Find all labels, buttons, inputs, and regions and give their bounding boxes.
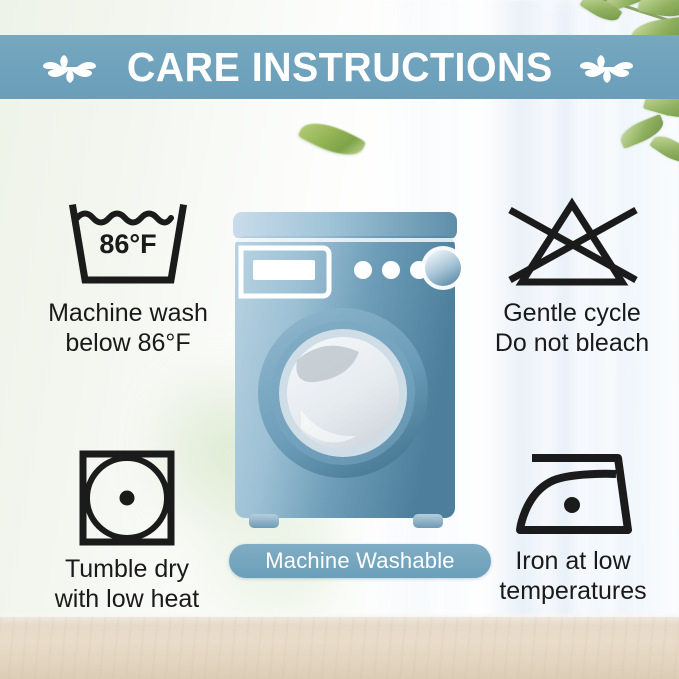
- page-title: CARE INSTRUCTIONS: [127, 44, 553, 91]
- care-symbol-caption: Gentle cycle Do not bleach: [495, 298, 649, 358]
- tumble-dry-square-icon: [75, 448, 179, 548]
- fleur-de-lis-icon: [579, 45, 637, 89]
- wash-temperature-label: 86°F: [99, 229, 156, 259]
- care-symbol-caption: Tumble dry with low heat: [55, 554, 200, 614]
- care-symbol-iron: Iron at low temperatures: [470, 448, 676, 606]
- foliage-top-right: [535, 0, 679, 200]
- care-symbol-caption: Iron at low temperatures: [499, 546, 646, 606]
- wood-surface-grain: [0, 617, 679, 679]
- care-symbol-caption: Machine wash below 86°F: [48, 298, 208, 358]
- washing-machine-illustration: [227, 210, 463, 530]
- care-symbol-tumble-dry: Tumble dry with low heat: [22, 448, 232, 614]
- care-symbol-gentle-cycle: Gentle cycle Do not bleach: [468, 196, 676, 358]
- triangle-crossed-icon: [496, 196, 648, 292]
- machine-washable-badge: Machine Washable: [229, 544, 491, 578]
- care-instructions-scene: CARE INSTRUCTIONS 86°F Machine wash belo…: [0, 0, 679, 679]
- care-symbol-machine-wash: 86°F Machine wash below 86°F: [18, 196, 238, 358]
- wash-tub-icon: 86°F: [63, 196, 193, 292]
- badge-label: Machine Washable: [265, 548, 454, 574]
- iron-icon: [506, 448, 640, 540]
- fleur-de-lis-icon: [42, 45, 100, 89]
- header-banner: CARE INSTRUCTIONS: [0, 35, 679, 99]
